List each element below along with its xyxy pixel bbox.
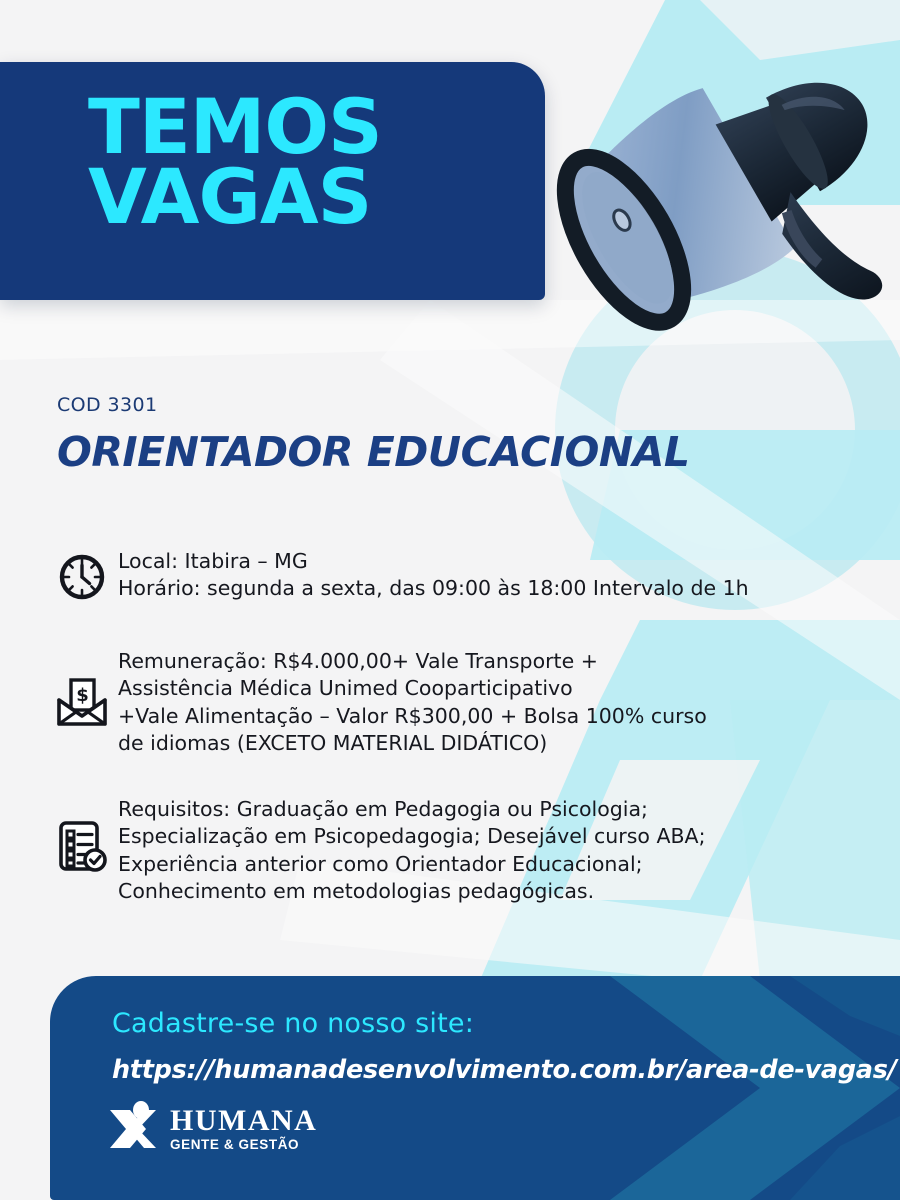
info-text-local: Local: Itabira – MG Horário: segunda a s… (118, 548, 749, 603)
logo-wordmark: HUMANA GENTE & GESTÃO (170, 1106, 317, 1152)
remuneracao-line-3: +Vale Alimentação – Valor R$300,00 + Bol… (118, 703, 707, 730)
requisitos-line-2: Especialização em Psicopedagogia; Desejá… (118, 823, 705, 850)
info-text-requisitos: Requisitos: Graduação em Pedagogia ou Ps… (118, 796, 705, 906)
cta-text: Cadastre-se no nosso site: (112, 1008, 474, 1039)
header-title-line2: VAGAS (88, 162, 382, 232)
requisitos-line-4: Conhecimento em metodologias pedagógicas… (118, 878, 705, 905)
job-posting-poster: TEMOS VAGAS (0, 0, 900, 1200)
logo-name: HUMANA (170, 1106, 317, 1136)
remuneracao-line-2: Assistência Médica Unimed Cooparticipati… (118, 675, 707, 702)
requisitos-line-3: Experiência anterior como Orientador Edu… (118, 851, 705, 878)
remuneracao-line-1: Remuneração: R$4.000,00+ Vale Transporte… (118, 648, 707, 675)
requisitos-line-1: Requisitos: Graduação em Pedagogia ou Ps… (118, 796, 705, 823)
info-block-local: Local: Itabira – MG Horário: segunda a s… (46, 548, 866, 603)
humana-arrow-person-logo-icon (108, 1100, 164, 1158)
money-envelope-icon: $ (46, 648, 118, 730)
remuneracao-line-4: de idiomas (EXCETO MATERIAL DIDÁTICO) (118, 730, 707, 757)
info-text-remuneracao: Remuneração: R$4.000,00+ Vale Transporte… (118, 648, 707, 758)
svg-text:$: $ (76, 685, 89, 706)
page-title: ORIENTADOR EDUCACIONAL (57, 428, 690, 476)
local-line: Local: Itabira – MG (118, 548, 749, 575)
info-block-remuneracao: $ Remuneração: R$4.000,00+ Vale Transpor… (46, 648, 866, 758)
job-code: COD 3301 (57, 394, 157, 416)
header-title: TEMOS VAGAS (88, 92, 382, 232)
logo-tagline: GENTE & GESTÃO (170, 1138, 317, 1152)
clock-icon (46, 548, 118, 602)
humana-logo: HUMANA GENTE & GESTÃO (108, 1100, 317, 1158)
horario-line: Horário: segunda a sexta, das 09:00 às 1… (118, 575, 749, 602)
info-block-requisitos: Requisitos: Graduação em Pedagogia ou Ps… (46, 796, 866, 906)
checklist-icon (46, 796, 118, 874)
megaphone-icon (498, 4, 900, 434)
application-url-link[interactable]: https://humanadesenvolvimento.com.br/are… (112, 1055, 897, 1085)
